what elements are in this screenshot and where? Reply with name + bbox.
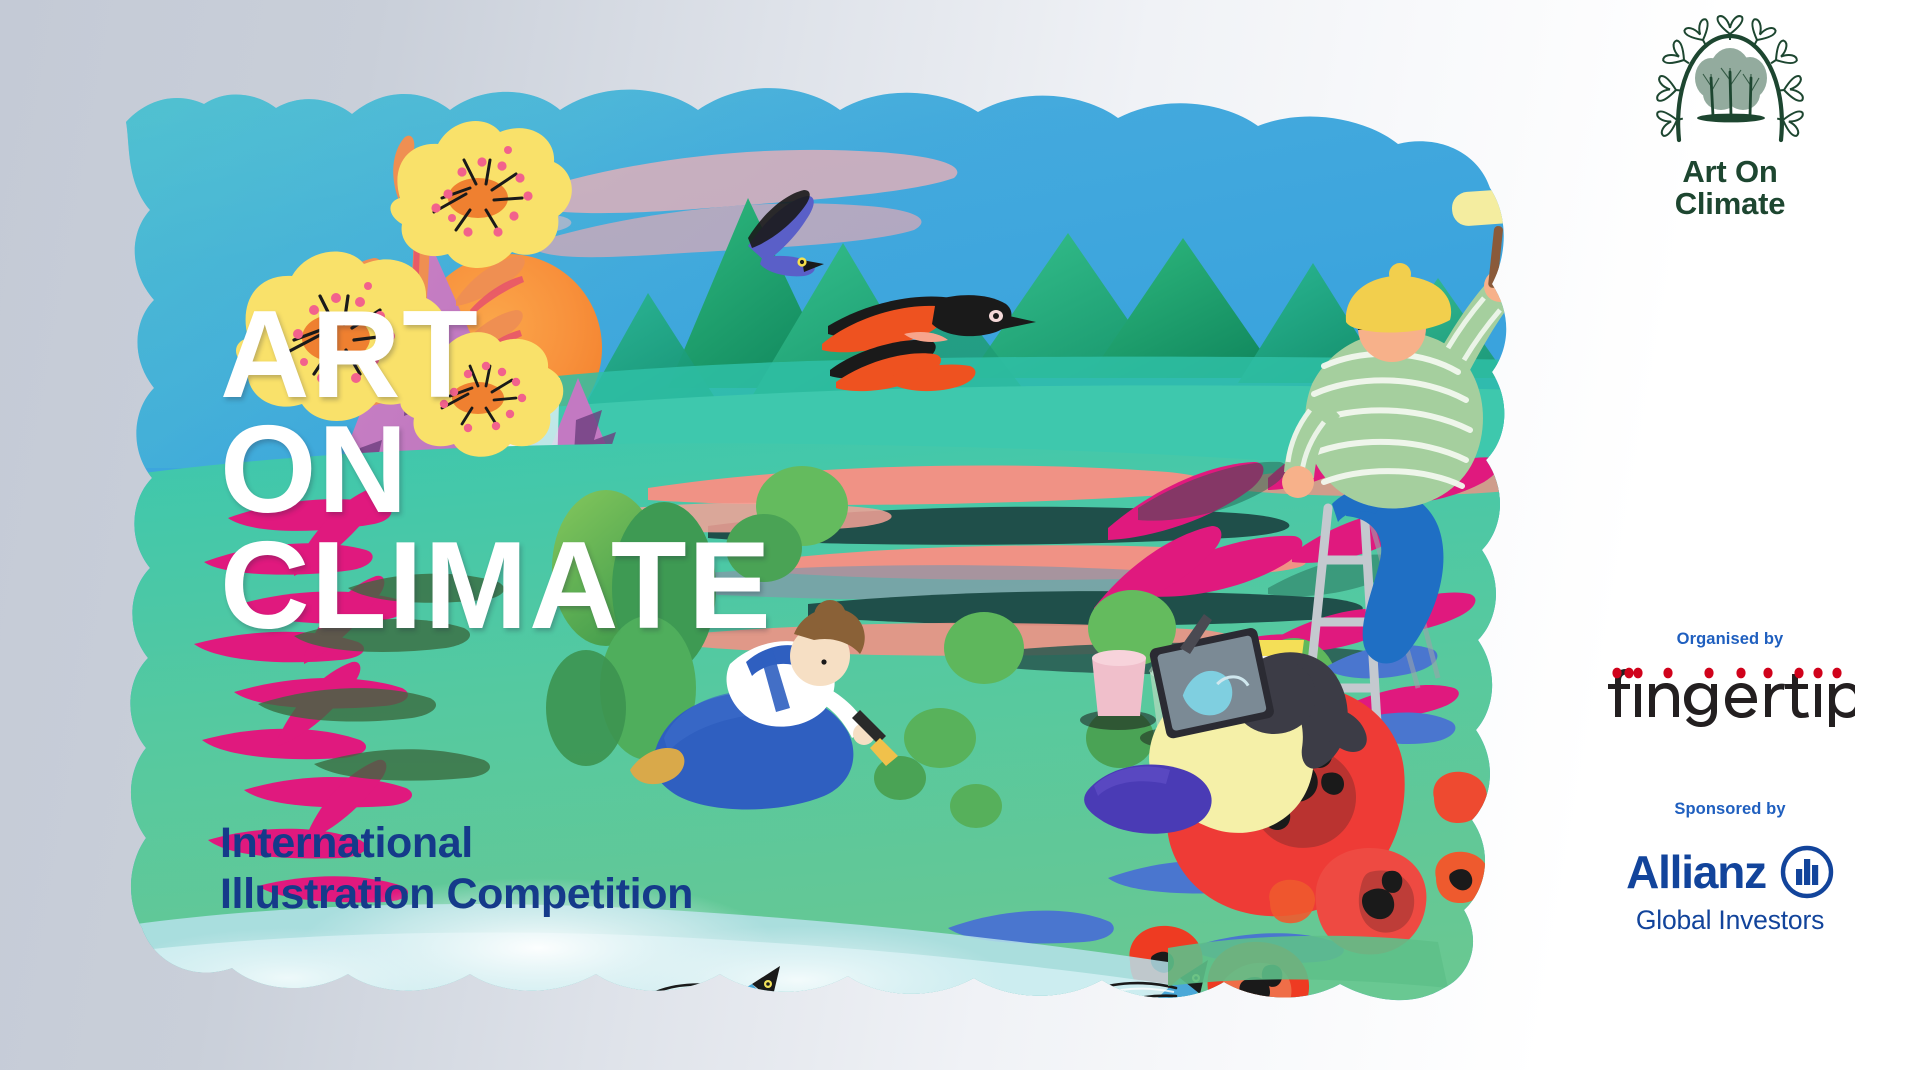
allianz-brand-text: Allianz (1626, 849, 1766, 895)
tree-in-leafy-arch-icon (1655, 14, 1805, 154)
allianz-bars-circle-icon (1780, 845, 1834, 899)
fingertips-logo[interactable] (1540, 665, 1920, 732)
sponsored-by-block: Sponsored by Allianz Global Investors (1540, 800, 1920, 936)
tree-cluster (1695, 48, 1767, 122)
poster-title-line-3: CLIMATE (220, 529, 960, 644)
organised-by-label: Organised by (1540, 630, 1920, 649)
allianz-global-investors-logo[interactable]: Allianz Global Investors (1540, 845, 1920, 936)
logo-line-2: Climate (1540, 188, 1920, 220)
logo-line-1: Art On (1540, 156, 1920, 188)
poster-title-line-2: ON (220, 413, 960, 528)
poster-subtitle: International Illustration Competition (220, 818, 980, 919)
fingertips-dots (1612, 668, 1841, 679)
art-on-climate-logo-text: Art On Climate (1540, 156, 1920, 220)
sidebar-credits-rail: Art On Climate Organised by (1540, 0, 1920, 1070)
allianz-sub-brand-text: Global Investors (1540, 905, 1920, 936)
art-on-climate-logo[interactable]: Art On Climate (1540, 14, 1920, 220)
sponsored-by-label: Sponsored by (1540, 800, 1920, 819)
poster-illustration-panel: ART ON CLIMATE International Illustratio… (108, 48, 1528, 1058)
poster-subtitle-line-2: Illustration Competition (220, 869, 980, 920)
poster-subtitle-line-1: International (220, 818, 980, 869)
poster-title: ART ON CLIMATE (220, 298, 960, 644)
organised-by-block: Organised by (1540, 630, 1920, 732)
poster-title-line-1: ART (220, 298, 960, 413)
fingertips-wordmark-icon (1605, 665, 1855, 727)
